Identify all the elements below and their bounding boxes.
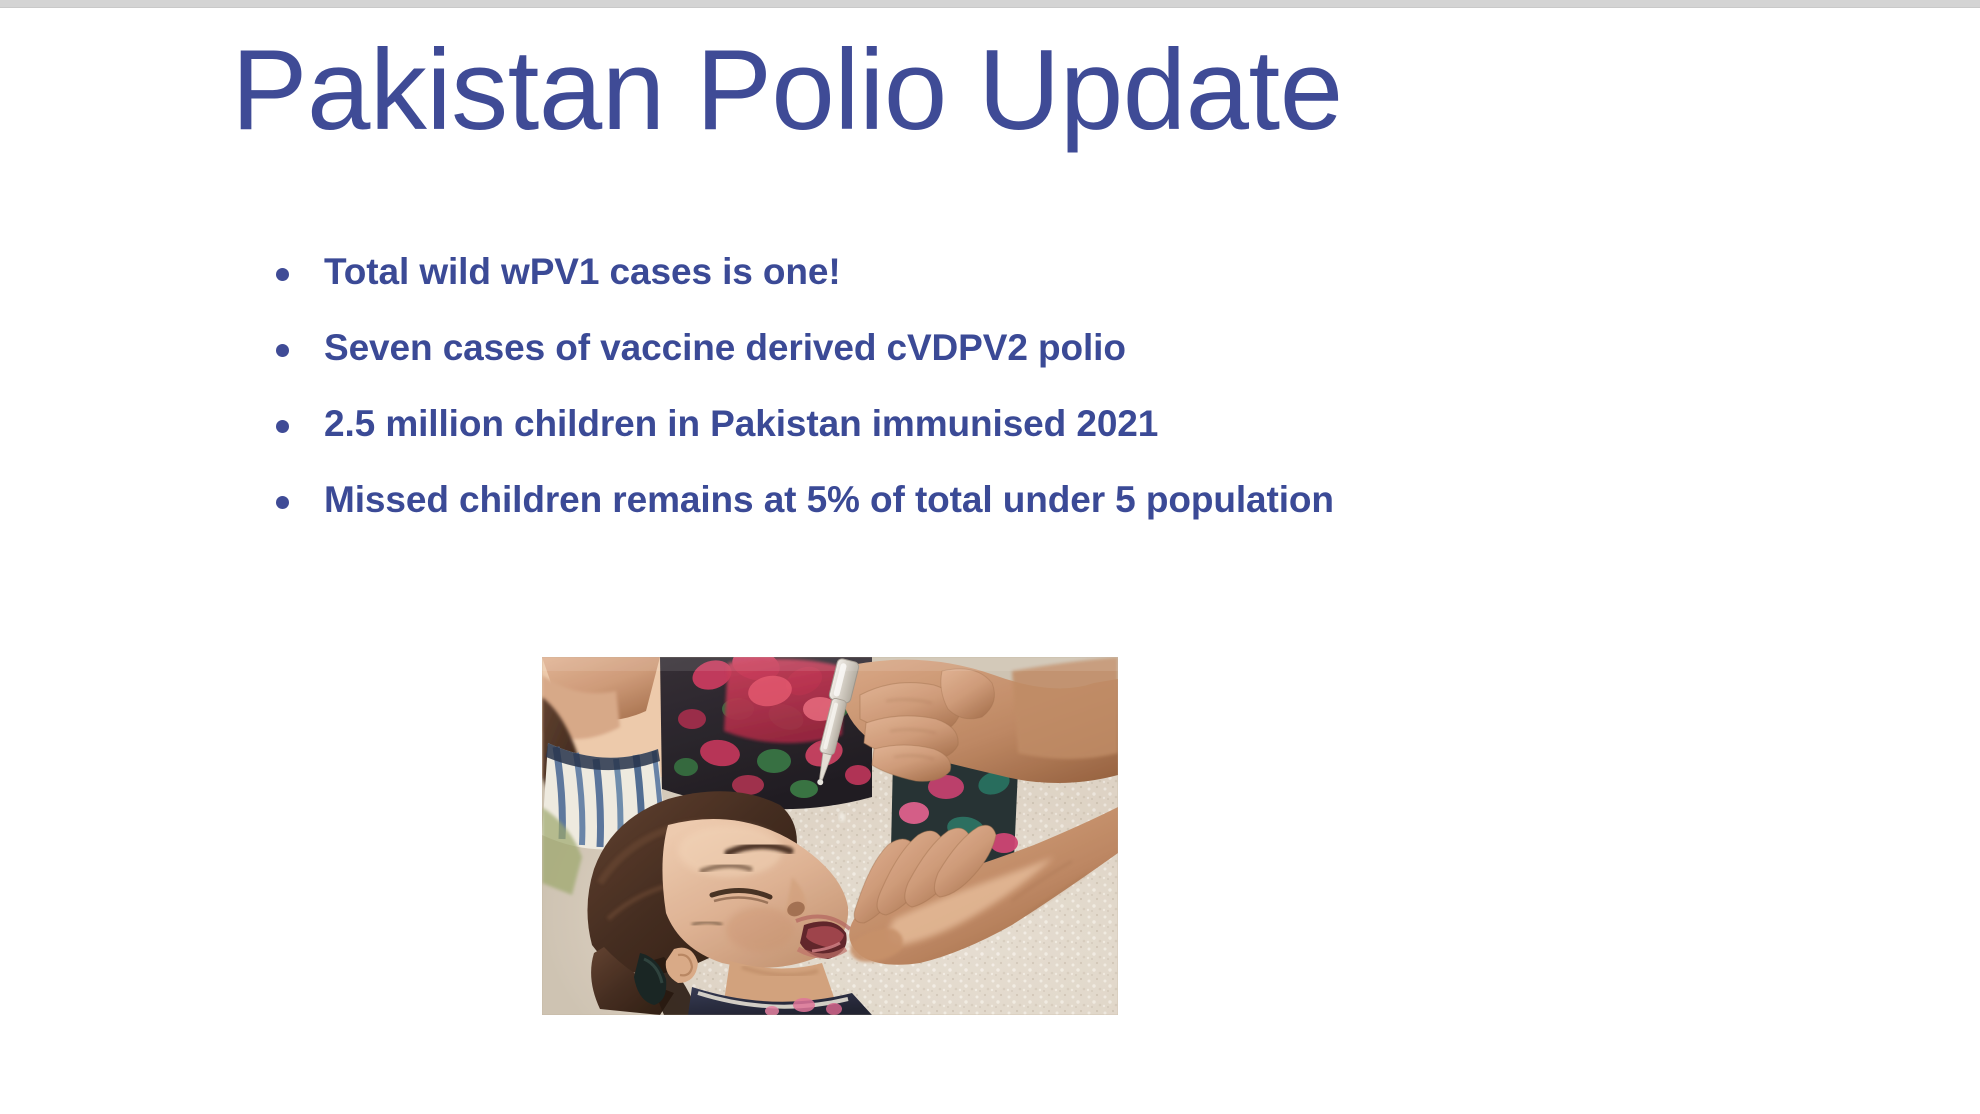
page-title: Pakistan Polio Update <box>0 28 1574 153</box>
bullet-dot-icon <box>272 268 324 281</box>
list-item: Total wild wPV1 cases is one! <box>272 253 1522 329</box>
list-item: Seven cases of vaccine derived cVDPV2 po… <box>272 329 1522 405</box>
list-item-label: 2.5 million children in Pakistan immunis… <box>324 405 1522 444</box>
bullet-dot-icon <box>272 496 324 509</box>
window-chrome-strip <box>0 0 1980 8</box>
bullet-list: Total wild wPV1 cases is one! Seven case… <box>272 253 1522 557</box>
bullet-dot-icon <box>272 344 324 357</box>
oral-polio-vaccination-photo <box>542 657 1118 1015</box>
list-item-label: Missed children remains at 5% of total u… <box>324 481 1522 520</box>
presentation-slide: Pakistan Polio Update Total wild wPV1 ca… <box>0 0 1980 1114</box>
bullet-dot-icon <box>272 420 324 433</box>
list-item: Missed children remains at 5% of total u… <box>272 481 1522 557</box>
list-item-label: Seven cases of vaccine derived cVDPV2 po… <box>324 329 1522 368</box>
list-item: 2.5 million children in Pakistan immunis… <box>272 405 1522 481</box>
list-item-label: Total wild wPV1 cases is one! <box>324 253 1522 292</box>
